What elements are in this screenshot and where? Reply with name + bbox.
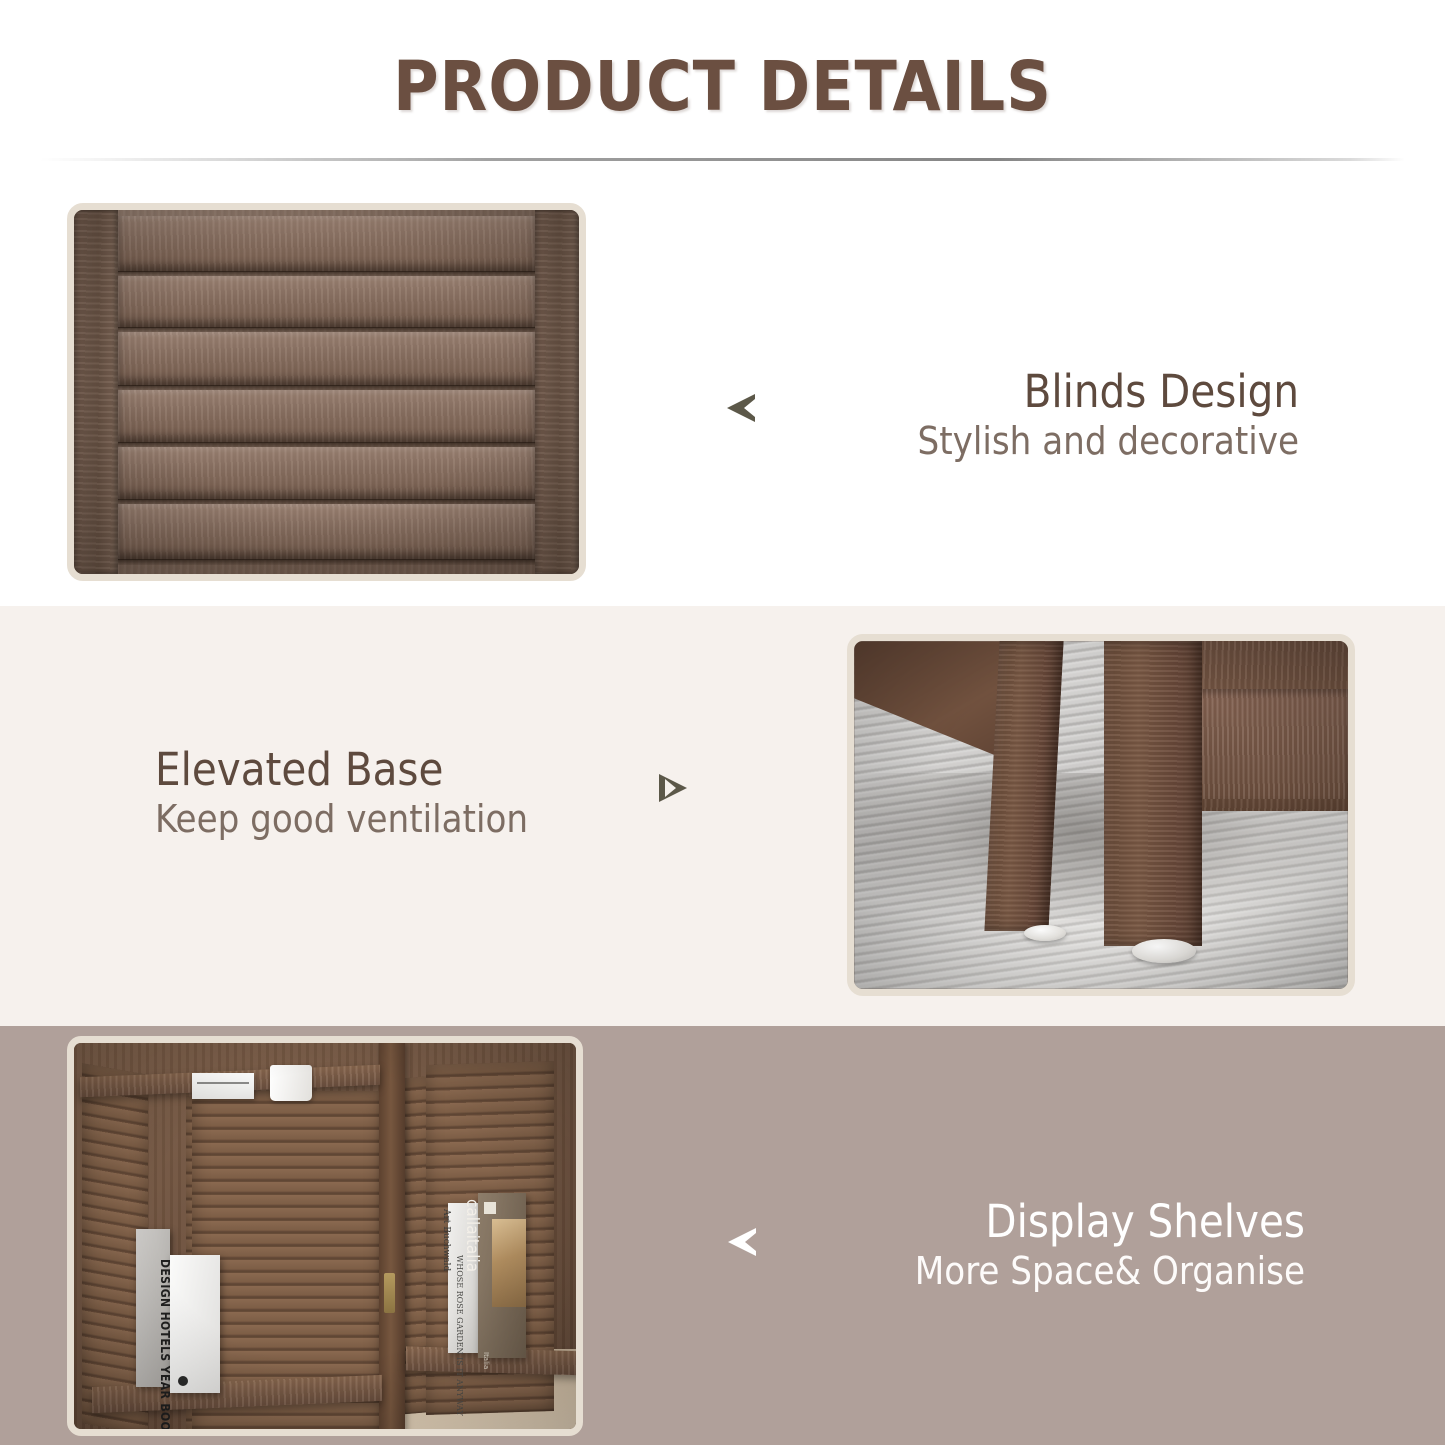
cabinet-door-stile: [379, 1043, 405, 1429]
cabinet-leg-front: [1104, 641, 1202, 946]
display-shelves-subtitle: More Space& Organise: [915, 1248, 1305, 1294]
louvre-slat: [118, 504, 535, 560]
book-author-text: Art Buchwald: [441, 1209, 451, 1271]
elevated-base-photo: [847, 634, 1355, 996]
leg-foot-pad: [1132, 939, 1196, 963]
louvre-slat: [118, 276, 535, 328]
book-callaitalia: callaitalia Italia: [478, 1193, 526, 1358]
elevated-base-subtitle: Keep good ventilation: [155, 796, 528, 842]
louvre-slat: [118, 390, 535, 443]
book-title-text: WHOSE ROSE GARDEN IS IT ANYWAY: [455, 1255, 464, 1416]
frame-stile-right: [535, 210, 579, 574]
book-publisher-text: Italia: [482, 1352, 490, 1369]
louvre-slat: [118, 332, 535, 386]
display-shelves-title: Display Shelves: [915, 1196, 1305, 1248]
book-spine-text: DESIGN HOTELS YEAR BOOK 09: [158, 1259, 172, 1389]
elevated-base-caption: Elevated Base Keep good ventilation: [155, 744, 528, 842]
page-title: PRODUCT DETAILS: [0, 47, 1445, 127]
book-spine-line: [197, 1082, 249, 1084]
blinds-design-photo: [67, 203, 586, 581]
door-hinge: [384, 1273, 395, 1313]
arrow-notch: [665, 779, 676, 797]
decor-vase: [270, 1065, 312, 1101]
header-divider: [40, 158, 1405, 161]
book-title-text: callaitalia: [462, 1199, 482, 1272]
book-logo-dot: [178, 1376, 188, 1386]
louvre-slat: [118, 216, 535, 272]
book-cover-square: [484, 1202, 496, 1214]
display-shelves-photo: DESIGN HOTELS YEAR BOOK 09 Art Buchwald …: [67, 1036, 583, 1436]
frame-stile-left: [74, 210, 118, 574]
display-shelves-caption: Display Shelves More Space& Organise: [915, 1196, 1305, 1294]
louvre-slat: [118, 447, 535, 500]
leg-foot-pad: [1024, 925, 1066, 941]
blinds-design-caption: Blinds Design Stylish and decorative: [918, 366, 1299, 464]
elevated-base-title: Elevated Base: [155, 744, 528, 796]
arrow-notch: [744, 399, 755, 417]
book-design-hotels: DESIGN HOTELS YEAR BOOK 09: [170, 1255, 220, 1393]
decor-book-top-shelf: [192, 1073, 254, 1099]
blinds-design-title: Blinds Design: [918, 366, 1299, 418]
book-cover-artwork: [492, 1219, 526, 1307]
blinds-design-subtitle: Stylish and decorative: [918, 418, 1299, 464]
arrow-notch: [745, 1233, 756, 1251]
